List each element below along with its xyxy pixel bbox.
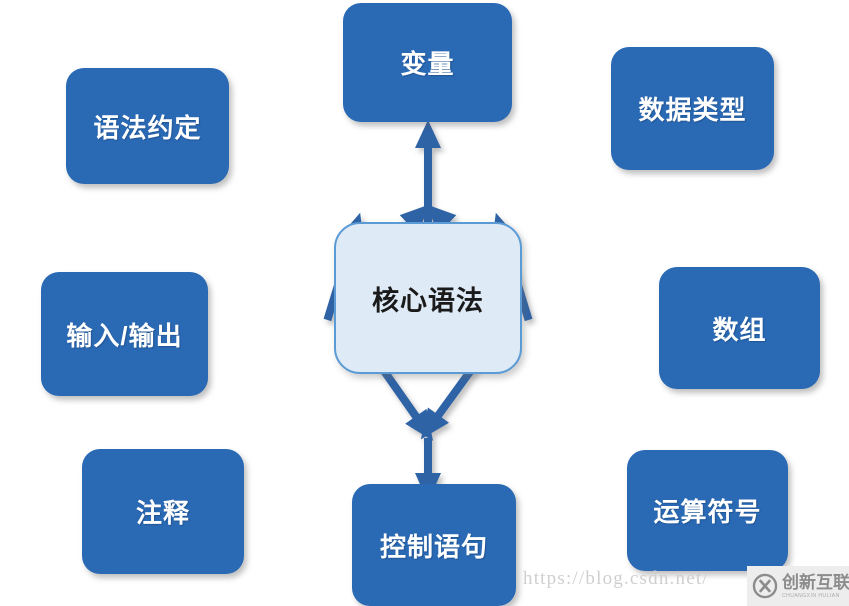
node-variable[interactable]: 变量 xyxy=(343,3,512,122)
node-core-syntax[interactable]: 核心语法 xyxy=(334,222,522,374)
node-variable-label: 变量 xyxy=(400,44,454,81)
node-syntax-rule[interactable]: 语法约定 xyxy=(66,68,229,184)
node-syntax-rule-label: 语法约定 xyxy=(93,108,201,145)
node-comment[interactable]: 注释 xyxy=(82,449,244,574)
node-control-statement[interactable]: 控制语句 xyxy=(352,484,516,606)
node-input-output-label: 输入/输出 xyxy=(66,316,182,353)
node-array-label: 数组 xyxy=(712,310,766,347)
node-input-output[interactable]: 输入/输出 xyxy=(41,272,208,396)
diagram-canvas: 变量 数据类型 数组 运算符号 控制语句 注释 输入/输出 语法约定 核心语法 … xyxy=(0,0,849,606)
watermark-url: https://blog.csdn.net/ xyxy=(523,568,709,590)
node-array[interactable]: 数组 xyxy=(659,267,820,389)
node-core-syntax-label: 核心语法 xyxy=(372,279,484,318)
circle-x-icon xyxy=(752,573,778,599)
node-operator[interactable]: 运算符号 xyxy=(627,450,788,571)
node-comment-label: 注释 xyxy=(136,493,190,530)
node-datatype[interactable]: 数据类型 xyxy=(611,47,774,170)
watermark-logo-title: 创新互联 xyxy=(782,574,849,591)
node-operator-label: 运算符号 xyxy=(653,492,761,529)
node-datatype-label: 数据类型 xyxy=(638,90,746,127)
watermark-logo-subtitle: CHUANGXIN HULIAN xyxy=(782,594,849,599)
connector-to-variable xyxy=(415,120,441,224)
node-control-statement-label: 控制语句 xyxy=(380,527,488,564)
watermark-logo: 创新互联 CHUANGXIN HULIAN xyxy=(747,566,849,606)
